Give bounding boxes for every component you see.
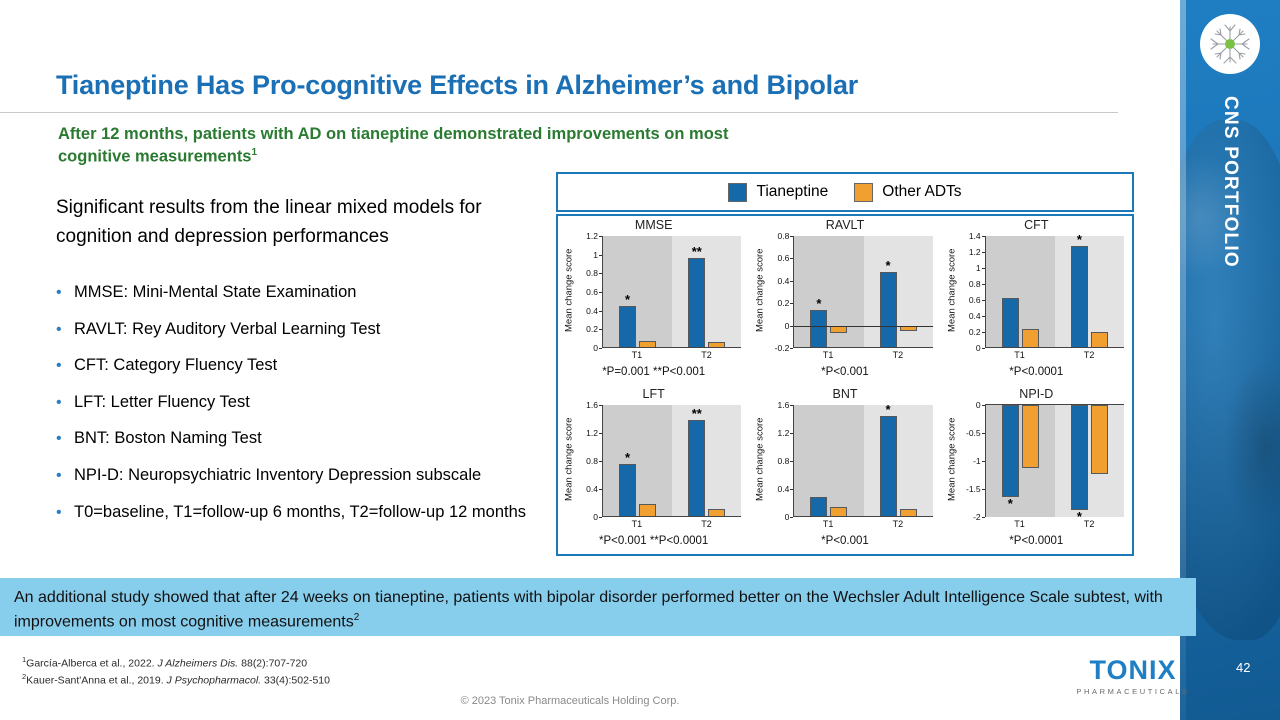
significance-marker: * xyxy=(886,259,891,272)
y-tick-label: 0 xyxy=(593,512,598,522)
bar-tianeptine-t1: * xyxy=(1002,405,1019,497)
tonix-wordmark: TONIX xyxy=(1068,655,1198,686)
footnote-1-citation: 88(2):707-720 xyxy=(238,658,307,670)
chart-cft: CFTMean change score1.41.210.80.60.40.20… xyxy=(941,216,1132,385)
chart-npi-d: NPI-DMean change score0-0.5-1-1.5-2**T1T… xyxy=(941,385,1132,554)
x-tick-label: T2 xyxy=(1054,350,1124,360)
y-axis-label: Mean change score xyxy=(562,407,576,512)
subheading-superscript: 1 xyxy=(252,147,258,158)
y-tick-label: 1.6 xyxy=(586,400,598,410)
y-tick-label: 0.2 xyxy=(969,327,981,337)
chart-lft: LFTMean change score1.61.20.80.40***T1T2… xyxy=(558,385,749,554)
x-axis-labels: T1T2 xyxy=(602,350,741,360)
chart-title: RAVLT xyxy=(749,218,940,232)
y-tick-label: 0.6 xyxy=(969,295,981,305)
y-axis-ticks: 0-0.5-1-1.5-2 xyxy=(961,405,983,517)
x-tick-label: T2 xyxy=(672,350,742,360)
footnote-2-citation: 33(4):502-510 xyxy=(261,674,330,686)
plot-area: 1.61.20.80.40*** xyxy=(578,405,741,517)
bar-other-adts-t1 xyxy=(639,504,656,517)
x-axis-line xyxy=(793,516,932,517)
x-axis-labels: T1T2 xyxy=(602,519,741,529)
x-tick-label: T1 xyxy=(793,519,863,529)
y-tick-label: -1 xyxy=(973,456,981,466)
bullet-dot-icon: • xyxy=(56,282,74,304)
portfolio-label: CNS PORTFOLIO xyxy=(1219,96,1241,268)
bar-tianeptine-t2: * xyxy=(880,272,897,348)
p-value-note: *P=0.001 **P<0.001 xyxy=(558,366,749,378)
callout-superscript: 2 xyxy=(354,612,360,623)
bars-container: * xyxy=(985,236,1124,348)
y-tick-label: 0 xyxy=(593,343,598,353)
significance-marker: ** xyxy=(692,245,702,258)
y-axis-label: Mean change score xyxy=(945,238,959,343)
chart-legend: Tianeptine Other ADTs xyxy=(556,172,1134,212)
plot-area: 0-0.5-1-1.5-2** xyxy=(961,405,1124,517)
list-item: • MMSE: Mini-Mental State Examination xyxy=(56,282,541,304)
significance-marker: * xyxy=(625,293,630,306)
zero-line xyxy=(794,326,932,327)
y-axis-label: Mean change score xyxy=(562,238,576,343)
bar-group-t1: * xyxy=(603,236,672,348)
y-axis-ticks: 1.210.80.60.40.20 xyxy=(578,236,600,348)
list-item: • NPI-D: Neuropsychiatric Inventory Depr… xyxy=(56,465,541,487)
chart-title: BNT xyxy=(749,387,940,401)
subheading: After 12 months, patients with AD on tia… xyxy=(58,124,738,168)
y-axis-label: Mean change score xyxy=(945,407,959,512)
legend-item-tianeptine: Tianeptine xyxy=(728,183,828,202)
copyright-text: © 2023 Tonix Pharmaceuticals Holding Cor… xyxy=(0,695,1140,707)
bullet-dot-icon: • xyxy=(56,392,74,414)
bar-group-t2: * xyxy=(864,405,933,517)
bullet-dot-icon: • xyxy=(56,502,74,524)
list-item: • T0=baseline, T1=follow-up 6 months, T2… xyxy=(56,502,541,524)
bar-tianeptine-t1 xyxy=(810,497,827,517)
chart-bnt: BNTMean change score1.61.20.80.40*T1T2*P… xyxy=(749,385,940,554)
y-tick-label: 0.4 xyxy=(778,484,790,494)
significance-marker: * xyxy=(1008,497,1013,510)
y-tick-label: 0.6 xyxy=(586,287,598,297)
bar-group-t1: * xyxy=(603,405,672,517)
bar-group-t1 xyxy=(794,405,863,517)
y-tick-label: 0.4 xyxy=(586,484,598,494)
y-tick-label: 0.2 xyxy=(586,324,598,334)
bar-group-t2: * xyxy=(864,236,933,348)
legend-label-other-adts: Other ADTs xyxy=(882,183,961,201)
chart-title: MMSE xyxy=(558,218,749,232)
bar-group-t2: ** xyxy=(672,405,741,517)
bar-other-adts-t1 xyxy=(1022,329,1039,348)
bar-group-t1: * xyxy=(986,405,1055,517)
y-tick-label: 0.6 xyxy=(778,253,790,263)
title-divider xyxy=(0,112,1118,113)
plot-area: 1.41.210.80.60.40.20* xyxy=(961,236,1124,348)
p-value-note: *P<0.0001 xyxy=(941,535,1132,547)
y-tick-label: 0 xyxy=(785,321,790,331)
y-tick-label: 1.6 xyxy=(778,400,790,410)
list-item: • CFT: Category Fluency Test xyxy=(56,355,541,377)
legend-item-other-adts: Other ADTs xyxy=(854,183,961,202)
chart-ravlt: RAVLTMean change score0.80.60.40.20-0.2*… xyxy=(749,216,940,385)
bullet-dot-icon: • xyxy=(56,465,74,487)
footnotes: 1García-Alberca et al., 2022. J Alzheime… xyxy=(22,655,330,688)
x-tick-label: T2 xyxy=(1054,519,1124,529)
x-axis-labels: T1T2 xyxy=(985,350,1124,360)
page-number: 42 xyxy=(1236,660,1250,675)
y-axis-label: Mean change score xyxy=(753,407,767,512)
bar-group-t2: * xyxy=(1055,405,1124,517)
bar-other-adts-t1 xyxy=(830,326,847,334)
list-item-label: T0=baseline, T1=follow-up 6 months, T2=f… xyxy=(74,502,541,524)
neuron-icon xyxy=(1200,14,1260,74)
footnote-2-author: Kauer-Sant'Anna et al., 2019. xyxy=(26,674,166,686)
y-tick-label: 1.2 xyxy=(586,231,598,241)
y-tick-label: 0.8 xyxy=(586,456,598,466)
bar-tianeptine-t2: ** xyxy=(688,420,705,517)
bars-container: ** xyxy=(793,236,932,348)
chart-title: LFT xyxy=(558,387,749,401)
x-tick-label: T1 xyxy=(793,350,863,360)
y-tick-label: -0.5 xyxy=(966,428,981,438)
bars-container: * xyxy=(793,405,932,517)
y-tick-label: -2 xyxy=(973,512,981,522)
y-axis-label: Mean change score xyxy=(753,238,767,343)
bars-container: *** xyxy=(602,405,741,517)
bar-group-t2: ** xyxy=(672,236,741,348)
bar-group-t2: * xyxy=(1055,236,1124,348)
y-tick-label: 0.8 xyxy=(778,456,790,466)
p-value-note: *P<0.001 xyxy=(749,366,940,378)
y-tick-label: 1.2 xyxy=(586,428,598,438)
y-tick-label: 0 xyxy=(976,343,981,353)
page-title: Tianeptine Has Pro-cognitive Effects in … xyxy=(56,70,858,101)
x-axis-line xyxy=(985,347,1124,348)
bar-tianeptine-t1: * xyxy=(810,310,827,348)
x-axis-line xyxy=(793,347,932,348)
list-item-label: CFT: Category Fluency Test xyxy=(74,355,541,377)
y-tick-label: 0.8 xyxy=(778,231,790,241)
y-axis-ticks: 1.61.20.80.40 xyxy=(578,405,600,517)
x-axis-labels: T1T2 xyxy=(985,519,1124,529)
significance-marker: * xyxy=(625,451,630,464)
list-item: • LFT: Letter Fluency Test xyxy=(56,392,541,414)
footnote-1: 1García-Alberca et al., 2022. J Alzheime… xyxy=(22,655,330,672)
x-axis-labels: T1T2 xyxy=(793,519,932,529)
footnote-2: 2Kauer-Sant'Anna et al., 2019. J Psychop… xyxy=(22,672,330,689)
x-axis-line xyxy=(602,347,741,348)
legend-swatch-tianeptine xyxy=(728,183,747,202)
y-tick-label: 0 xyxy=(976,400,981,410)
definitions-list: • MMSE: Mini-Mental State Examination • … xyxy=(56,282,541,538)
x-axis-line xyxy=(602,516,741,517)
chart-title: CFT xyxy=(941,218,1132,232)
slide-root: CNS PORTFOLIO Tianeptine Has Pro-cogniti… xyxy=(0,0,1280,720)
plot-area: 1.210.80.60.40.20*** xyxy=(578,236,741,348)
y-tick-label: 1.2 xyxy=(778,428,790,438)
bar-other-adts-t2 xyxy=(1091,405,1108,474)
bars-container: *** xyxy=(602,236,741,348)
footnote-1-author: García-Alberca et al., 2022. xyxy=(26,658,157,670)
bullet-dot-icon: • xyxy=(56,355,74,377)
y-tick-label: 1 xyxy=(976,263,981,273)
bar-tianeptine-t2: * xyxy=(880,416,897,518)
y-axis-ticks: 1.61.20.80.40 xyxy=(769,405,791,517)
bullet-dot-icon: • xyxy=(56,319,74,341)
y-tick-label: 0.4 xyxy=(969,311,981,321)
y-tick-label: 0.8 xyxy=(586,268,598,278)
list-item-label: NPI-D: Neuropsychiatric Inventory Depres… xyxy=(74,465,541,487)
significance-marker: * xyxy=(1077,233,1082,246)
y-tick-label: -1.5 xyxy=(966,484,981,494)
bar-other-adts-t2 xyxy=(1091,332,1108,348)
legend-swatch-other-adts xyxy=(854,183,873,202)
bar-group-t1 xyxy=(986,236,1055,348)
x-axis-line xyxy=(985,404,1124,405)
subheading-text: After 12 months, patients with AD on tia… xyxy=(58,125,728,165)
bar-other-adts-t1 xyxy=(1022,405,1039,468)
footnote-2-journal: J Psychopharmacol. xyxy=(167,674,262,686)
x-tick-label: T2 xyxy=(672,519,742,529)
x-tick-label: T2 xyxy=(863,519,933,529)
chart-grid: MMSEMean change score1.210.80.60.40.20**… xyxy=(556,214,1134,556)
bar-tianeptine-t2: ** xyxy=(688,258,705,348)
bars-container: ** xyxy=(985,405,1124,517)
list-item-label: RAVLT: Rey Auditory Verbal Learning Test xyxy=(74,319,541,341)
y-tick-label: 0 xyxy=(785,512,790,522)
list-item-label: MMSE: Mini-Mental State Examination xyxy=(74,282,541,304)
y-axis-ticks: 0.80.60.40.20-0.2 xyxy=(769,236,791,348)
plot-area: 1.61.20.80.40* xyxy=(769,405,932,517)
callout-banner: An additional study showed that after 24… xyxy=(0,578,1196,636)
bar-tianeptine-t1: * xyxy=(619,464,636,517)
significance-marker: ** xyxy=(692,407,702,420)
footnote-1-journal: J Alzheimers Dis. xyxy=(158,658,239,670)
chart-title: NPI-D xyxy=(941,387,1132,401)
y-tick-label: -0.2 xyxy=(775,343,790,353)
y-tick-label: 0.4 xyxy=(586,306,598,316)
chart-mmse: MMSEMean change score1.210.80.60.40.20**… xyxy=(558,216,749,385)
y-tick-label: 0.2 xyxy=(778,298,790,308)
p-value-note: *P<0.001 **P<0.0001 xyxy=(558,535,749,547)
tonix-tagline: PHARMACEUTICALS xyxy=(1068,687,1198,696)
plot-area: 0.80.60.40.20-0.2** xyxy=(769,236,932,348)
list-item: • BNT: Boston Naming Test xyxy=(56,428,541,450)
list-item-label: LFT: Letter Fluency Test xyxy=(74,392,541,414)
legend-label-tianeptine: Tianeptine xyxy=(756,183,828,201)
significance-marker: * xyxy=(816,297,821,310)
x-tick-label: T1 xyxy=(985,519,1055,529)
bullet-dot-icon: • xyxy=(56,428,74,450)
significance-marker: * xyxy=(886,403,891,416)
y-tick-label: 1.2 xyxy=(969,247,981,257)
bar-group-t1: * xyxy=(794,236,863,348)
y-tick-label: 1.4 xyxy=(969,231,981,241)
bar-tianeptine-t1 xyxy=(1002,298,1019,348)
y-tick-label: 1 xyxy=(593,250,598,260)
bar-tianeptine-t1: * xyxy=(619,306,636,348)
callout-text: An additional study showed that after 24… xyxy=(14,589,1163,631)
x-tick-label: T1 xyxy=(602,350,672,360)
y-axis-ticks: 1.41.210.80.60.40.20 xyxy=(961,236,983,348)
bar-tianeptine-t2: * xyxy=(1071,246,1088,348)
list-item-label: BNT: Boston Naming Test xyxy=(74,428,541,450)
body-paragraph: Significant results from the linear mixe… xyxy=(56,193,501,251)
p-value-note: *P<0.001 xyxy=(749,535,940,547)
x-axis-labels: T1T2 xyxy=(793,350,932,360)
x-tick-label: T1 xyxy=(985,350,1055,360)
x-tick-label: T2 xyxy=(863,350,933,360)
bar-tianeptine-t2: * xyxy=(1071,405,1088,510)
x-tick-label: T1 xyxy=(602,519,672,529)
tonix-logo: TONIX PHARMACEUTICALS xyxy=(1068,655,1198,707)
y-tick-label: 0.8 xyxy=(969,279,981,289)
charts-panel: Tianeptine Other ADTs MMSEMean change sc… xyxy=(556,172,1134,556)
p-value-note: *P<0.0001 xyxy=(941,366,1132,378)
list-item: • RAVLT: Rey Auditory Verbal Learning Te… xyxy=(56,319,541,341)
y-tick-label: 0.4 xyxy=(778,276,790,286)
